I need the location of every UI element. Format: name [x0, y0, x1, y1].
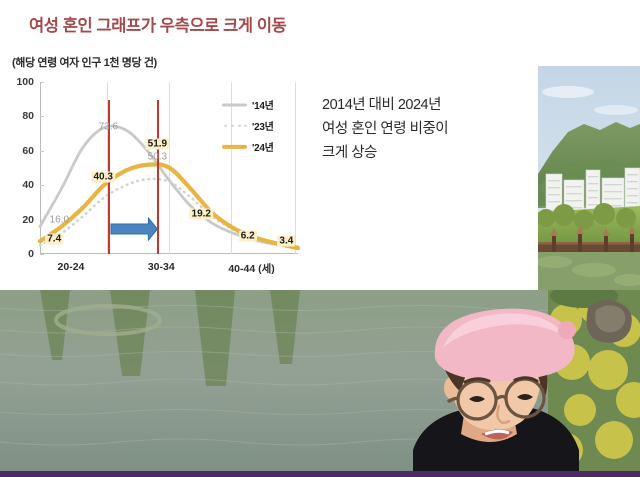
summary-note-line-3: 크게 상승 [322, 141, 522, 165]
summary-note-line-2: 여성 혼인 연령 비중이 [322, 117, 522, 141]
chart-data-label: 73.6 [97, 122, 120, 133]
chart-data-label: 16.0 [48, 215, 71, 226]
legend-item-label: '24년 [252, 139, 274, 154]
legend-item-24[interactable]: '24년 [222, 136, 300, 157]
landscape-photo-art [538, 66, 640, 290]
chart-data-label: 7.4 [45, 234, 63, 245]
page-title: 여성 혼인 그래프가 우측으로 크게 이동 [29, 12, 286, 36]
legend-item-14[interactable]: '14년 [222, 94, 300, 115]
legend-item-label: '23년 [252, 118, 274, 133]
screenshot-root: 여성 혼인 그래프가 우측으로 크게 이동 (해당 연령 여자 인구 1천 명당… [0, 0, 640, 477]
chart-y-tick-label: 0 [4, 248, 34, 260]
legend-item-23[interactable]: '23년 [222, 115, 300, 136]
chart-data-label: 51.9 [146, 138, 169, 149]
chart-data-label: 50.3 [146, 151, 169, 162]
chart-y-tick-label: 40 [4, 179, 34, 191]
summary-note-line-1: 2014년 대비 2024년 [322, 93, 522, 117]
legend-swatch-icon [222, 120, 247, 131]
chart-y-tick-label: 80 [4, 110, 34, 122]
chart-y-tick-label: 100 [4, 76, 34, 88]
chart-y-tick-label: 60 [4, 145, 34, 157]
chart-data-label: 6.2 [239, 230, 257, 241]
summary-note: 2014년 대비 2024년 여성 혼인 연령 비중이 크게 상승 [322, 93, 522, 165]
rightward-shift-arrow-icon [111, 218, 157, 240]
legend-swatch-icon [222, 141, 247, 152]
marriage-rate-line-chart: 020406080100 20-2430-3440-44 (세) 73.616.… [6, 72, 302, 278]
chart-data-label: 19.2 [190, 208, 213, 219]
chart-x-tick-label: 40-44 (세) [228, 261, 274, 276]
chart-data-label: 40.3 [91, 172, 114, 183]
chart-x-tick-label: 20-24 [58, 261, 85, 273]
chart-legend: '14년'23년'24년 [222, 94, 300, 157]
chart-subtitle: (해당 연령 여자 인구 1천 명당 건) [12, 54, 157, 70]
person-figure [395, 300, 630, 477]
legend-swatch-icon [222, 99, 247, 110]
chart-x-tick-label: 30-34 [148, 261, 175, 273]
video-frame[interactable] [0, 290, 640, 477]
landscape-photo [538, 66, 640, 290]
slide-panel: 여성 혼인 그래프가 우측으로 크게 이동 (해당 연령 여자 인구 1천 명당… [0, 0, 640, 290]
chart-data-label: 3.4 [277, 236, 295, 247]
chart-y-tick-label: 20 [4, 214, 34, 226]
video-bottom-bar [0, 471, 640, 477]
legend-item-label: '14년 [252, 97, 274, 112]
chart-y-tick-mark [40, 254, 44, 255]
